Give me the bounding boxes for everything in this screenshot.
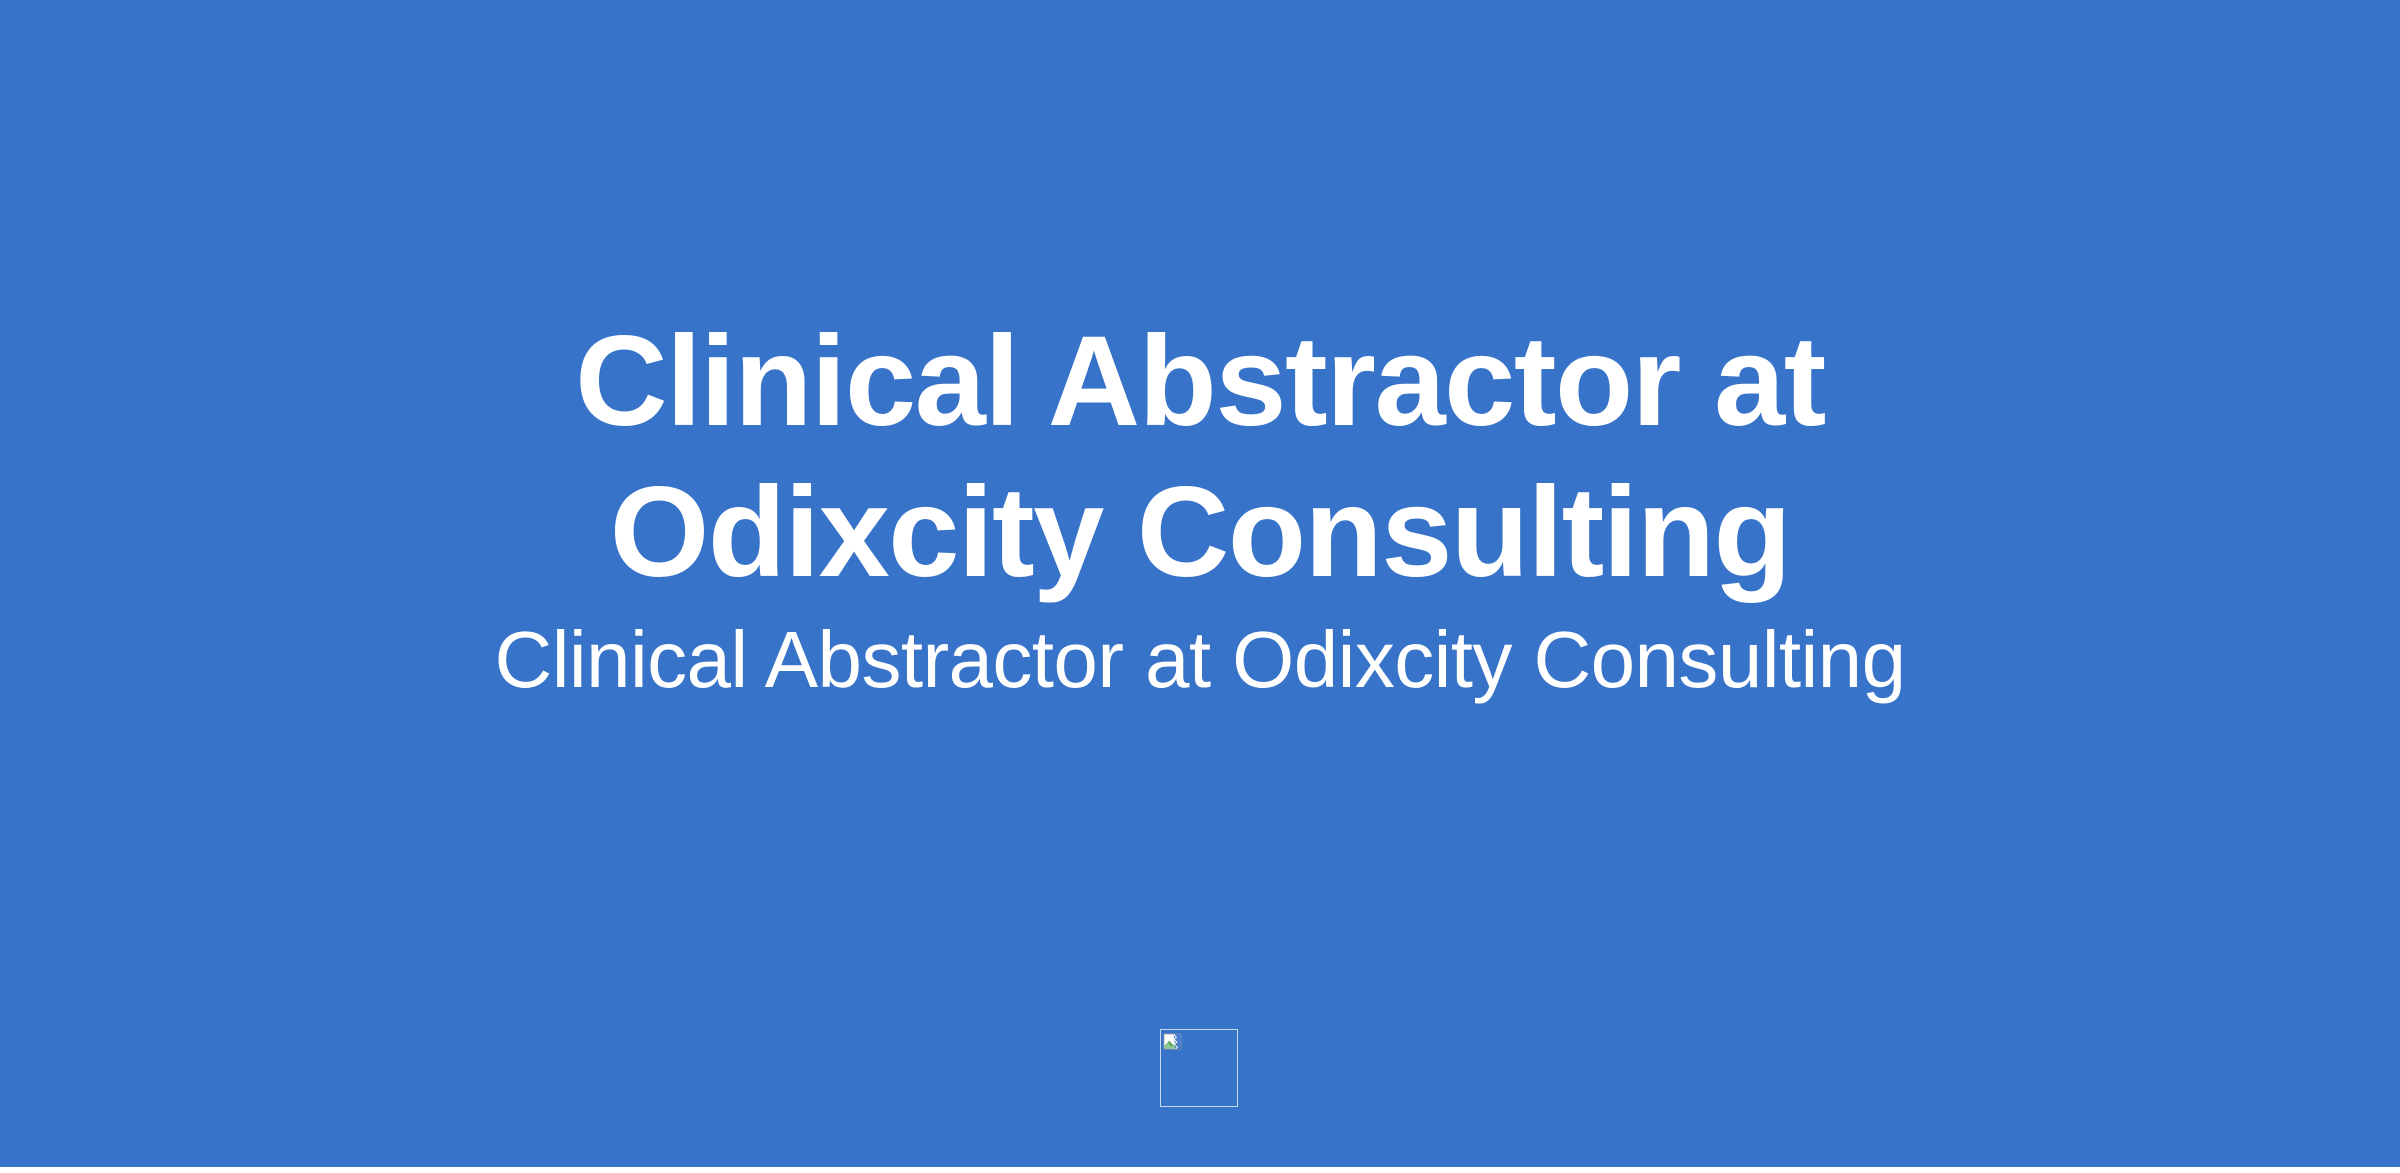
page-title-block: Clinical Abstractor at Odixcity Consulti… bbox=[370, 306, 2030, 608]
broken-image-placeholder[interactable] bbox=[1160, 1029, 1238, 1107]
hero-content: Clinical Abstractor at Odixcity Consulti… bbox=[0, 0, 2400, 1167]
hero-banner: Clinical Abstractor at Odixcity Consulti… bbox=[0, 0, 2400, 1167]
hero-image-slot bbox=[1160, 1029, 1240, 1109]
page-subtitle: Clinical Abstractor at Odixcity Consulti… bbox=[200, 612, 2200, 708]
broken-image-icon bbox=[1163, 1032, 1183, 1052]
page-title: Clinical Abstractor at Odixcity Consulti… bbox=[370, 306, 2030, 608]
page-subtitle-block: Clinical Abstractor at Odixcity Consulti… bbox=[200, 612, 2200, 708]
bottom-white-strip bbox=[0, 1167, 2400, 1173]
